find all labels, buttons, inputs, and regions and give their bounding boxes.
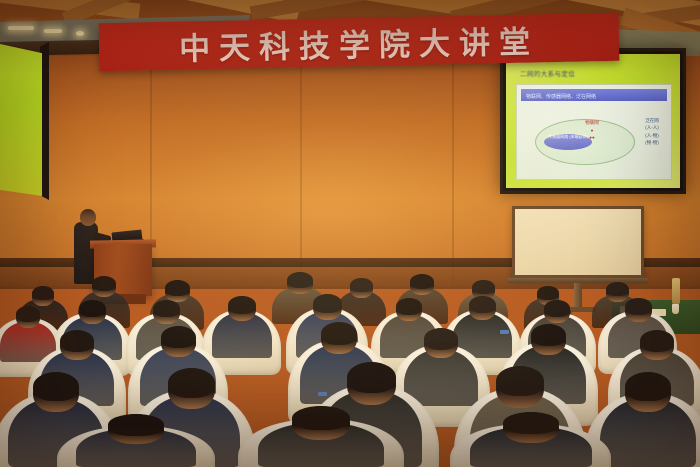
audience-member-head (287, 272, 313, 294)
audience-member-hair (347, 362, 396, 393)
projection-screen: 二网的大系与定位 物联网、传感器网络、泛在网络 传感器网络 (末端延伸) 物联网… (506, 54, 680, 188)
audience-member-hair (165, 280, 190, 296)
audience-member-head (625, 372, 671, 412)
audience-member-hair (606, 282, 629, 296)
audience-member-hair (410, 274, 434, 289)
audience-member-hair (625, 298, 652, 315)
audience-member-head (292, 406, 350, 440)
attendee-badge (318, 392, 327, 396)
table-cup (672, 304, 679, 314)
wall-seam (300, 56, 302, 286)
audience-member-hair (640, 330, 674, 352)
audience-member-head (313, 294, 342, 320)
audience-member-hair (496, 366, 544, 396)
audience-member (258, 406, 384, 467)
audience-member-hair (161, 326, 196, 348)
audience-member-hair (424, 328, 458, 350)
audience-member-head (496, 366, 544, 408)
audience-member-hair (287, 272, 313, 288)
audience-member-head (108, 414, 164, 444)
audience-member-head (60, 330, 94, 360)
audience-member-hair (16, 306, 40, 322)
audience-member-head (544, 300, 570, 323)
audience-member (470, 412, 592, 467)
audience-member-hair (32, 286, 54, 300)
audience-member-hair (228, 296, 256, 314)
audience-member-head (424, 328, 458, 358)
audience-member-hair (472, 280, 495, 294)
audience-member-head (92, 276, 116, 297)
audience-member-hair (350, 278, 373, 292)
audience-member-hair (537, 286, 559, 300)
audience-member-head (168, 368, 215, 409)
screen-glare (506, 54, 680, 188)
audience-member-head (228, 296, 256, 321)
audience-member-head (16, 306, 40, 328)
audience-member-head (79, 300, 106, 324)
audience-member-hair (469, 296, 496, 313)
audience-member-hair (79, 300, 106, 317)
audience-member-hair (321, 322, 357, 345)
audience-member-head (32, 286, 54, 306)
audience-member (76, 414, 196, 467)
audience-member-head (33, 372, 79, 412)
lecture-hall-photo: 二网的大系与定位 物联网、传感器网络、泛在网络 传感器网络 (末端延伸) 物联网… (0, 0, 700, 467)
audience-member-head (503, 412, 559, 443)
audience-member-head (469, 296, 496, 320)
audience-member-hair (396, 298, 422, 315)
audience-member-hair (108, 414, 164, 436)
audience-member-hair (60, 330, 94, 352)
left-projection-screen (0, 44, 42, 196)
audience-member-hair (153, 300, 180, 317)
audience-member-hair (292, 406, 350, 430)
audience-member-head (347, 362, 396, 405)
audience-member-head (625, 298, 652, 322)
audience-member-head (161, 326, 196, 357)
audience-member (600, 372, 696, 467)
audience-member-head (410, 274, 434, 295)
audience-member-head (396, 298, 422, 321)
audience-member-hair (33, 372, 79, 401)
attendee-badge (500, 330, 509, 334)
table-bottle (672, 278, 680, 304)
audience-member-hair (168, 368, 215, 398)
ceiling-light-icon (8, 26, 34, 30)
audience-member-head (531, 324, 566, 355)
whiteboard-surface (515, 209, 641, 275)
audience-member-head (165, 280, 190, 302)
audience-member (212, 296, 272, 358)
speaker-head (80, 209, 96, 226)
event-banner-text: 中天科技学院大讲堂 (179, 16, 540, 68)
audience-member-head (153, 300, 180, 324)
audience-member-head (640, 330, 674, 360)
audience-member-hair (503, 412, 559, 434)
audience-member-hair (544, 300, 570, 317)
audience-member-hair (531, 324, 566, 346)
whiteboard (512, 206, 644, 278)
audience-member-hair (625, 372, 671, 401)
ceiling-light-icon (44, 29, 62, 33)
audience-member-head (321, 322, 357, 354)
audience-member-hair (313, 294, 342, 313)
audience-member-hair (92, 276, 116, 291)
wall-seam (452, 56, 454, 286)
ceiling-light-icon (76, 31, 84, 36)
